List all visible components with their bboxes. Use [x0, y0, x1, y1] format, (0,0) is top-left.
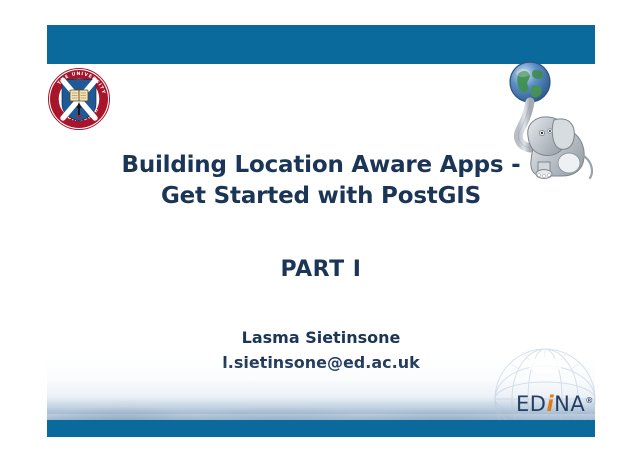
edina-i-letter: i [546, 392, 554, 416]
part-label: PART I [47, 212, 595, 282]
author-name: Lasma Sietinsone [47, 282, 595, 350]
bottom-banner-bar [47, 420, 595, 437]
slide-text-block: Building Location Aware Apps - Get Start… [47, 150, 595, 375]
page-title: Building Location Aware Apps - Get Start… [47, 150, 595, 212]
presentation-slide: THE UNIVERSITY OF EDINBURGH [0, 0, 640, 452]
edina-logo: EDiNA® [516, 392, 594, 416]
registered-trademark-icon: ® [585, 396, 594, 405]
university-of-edinburgh-crest-logo: THE UNIVERSITY OF EDINBURGH [46, 66, 112, 132]
edina-prefix: ED [516, 392, 546, 416]
edina-suffix: NA [554, 392, 585, 416]
title-line-1: Building Location Aware Apps - [121, 152, 520, 178]
title-line-2: Get Started with PostGIS [161, 183, 481, 209]
